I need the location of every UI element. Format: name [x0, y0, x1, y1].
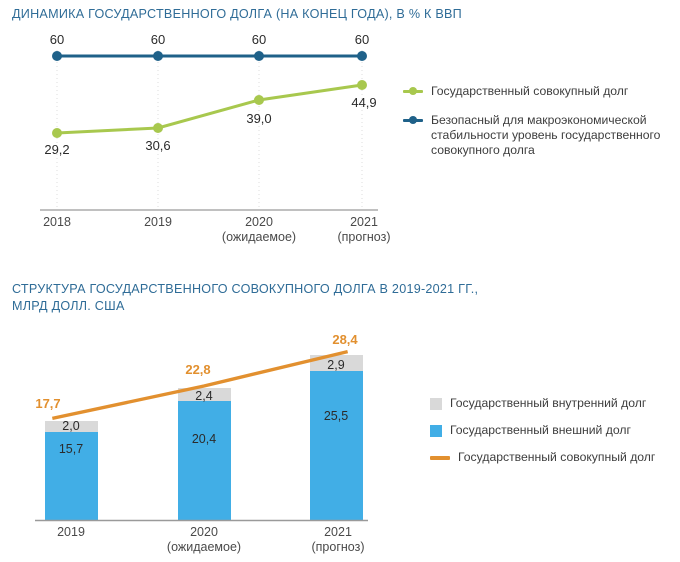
line-marker-green-icon	[402, 84, 424, 99]
legend-label-total-debt: Государственный совокупный долг	[431, 84, 676, 99]
x-tick-2020: 2020	[245, 215, 273, 229]
data-label-total-2021: 28,4	[332, 332, 358, 347]
data-label-external-2021: 25,5	[324, 409, 348, 423]
data-label-internal-2020: 2,4	[195, 389, 212, 403]
legend-label-safe-level: Безопасный для макроэкономической стабил…	[431, 113, 676, 158]
bar-group-2021[interactable]: 2,9 25,5	[310, 355, 363, 520]
legend-label-external-debt: Государственный внешний долг	[450, 423, 680, 438]
line-chart-svg: 60 60 60 60 29,2 30,6 39,0 44,9 2018 201…	[0, 28, 400, 228]
chart-one-legend: Государственный совокупный долг Безопасн…	[402, 84, 676, 158]
chart-two-plot: 2,0 15,7 2,4 20,4 2,9 25,5 17,7 22,8 28,…	[0, 330, 400, 530]
data-label-total-2021: 44,9	[351, 95, 376, 110]
x-tick-2021: 2021	[324, 525, 352, 539]
legend-label-internal-debt: Государственный внутренний долг	[450, 396, 680, 411]
x-tick-labels: 2018 2019 2020 (ожидаемое) 2021 (прогноз…	[43, 215, 390, 244]
square-marker-blue-icon	[430, 425, 442, 437]
bar-external-2020	[178, 401, 231, 520]
square-marker-gray-icon	[430, 398, 442, 410]
legend-item-internal-debt[interactable]: Государственный внутренний долг	[430, 396, 680, 411]
x-tick-2021-note: (прогноз)	[337, 230, 390, 244]
data-label-internal-2021: 2,9	[327, 358, 344, 372]
data-label-external-2019: 15,7	[59, 442, 83, 456]
data-label-safe-2020: 60	[252, 32, 266, 47]
x-tick-2020-note: (ожидаемое)	[222, 230, 296, 244]
series-total-debt-labels: 29,2 30,6 39,0 44,9	[44, 95, 376, 157]
series-safe-level-labels: 60 60 60 60	[50, 32, 369, 47]
x-tick-2020: 2020	[190, 525, 218, 539]
legend-item-external-debt[interactable]: Государственный внешний долг	[430, 423, 680, 438]
data-label-external-2020: 20,4	[192, 432, 216, 446]
series-safe-level	[52, 51, 367, 61]
data-label-total-2019: 17,7	[35, 396, 60, 411]
data-label-total-2018: 29,2	[44, 142, 69, 157]
data-label-internal-2019: 2,0	[62, 419, 79, 433]
legend-label-total-debt: Государственный совокупный долг	[458, 450, 680, 465]
bar-group-2020[interactable]: 2,4 20,4	[178, 388, 231, 520]
x-tick-2021-note: (прогноз)	[311, 540, 364, 554]
data-label-total-2020: 22,8	[185, 362, 210, 377]
chart-two-title: СТРУКТУРА ГОСУДАРСТВЕННОГО СОВОКУПНОГО Д…	[12, 281, 478, 315]
data-label-total-2019: 30,6	[145, 138, 170, 153]
data-label-safe-2019: 60	[151, 32, 165, 47]
data-label-safe-2018: 60	[50, 32, 64, 47]
x-tick-2020-note: (ожидаемое)	[167, 540, 241, 554]
x-tick-labels: 2019 2020 (ожидаемое) 2021 (прогноз)	[57, 525, 364, 554]
bar-external-2021	[310, 371, 363, 520]
chart-one-title: ДИНАМИКА ГОСУДАРСТВЕННОГО ДОЛГА (НА КОНЕ…	[12, 6, 462, 23]
chart-two-legend: Государственный внутренний долг Государс…	[430, 396, 680, 477]
legend-item-safe-level[interactable]: Безопасный для макроэкономической стабил…	[402, 113, 676, 158]
x-tick-2019: 2019	[57, 525, 85, 539]
x-tick-2021: 2021	[350, 215, 378, 229]
x-tick-2018: 2018	[43, 215, 71, 229]
data-label-total-2020: 39,0	[246, 111, 271, 126]
bar-chart-svg: 2,0 15,7 2,4 20,4 2,9 25,5 17,7 22,8 28,…	[0, 330, 400, 530]
line-marker-blue-icon	[402, 113, 424, 128]
series-total-debt	[52, 80, 367, 138]
x-tick-2019: 2019	[144, 215, 172, 229]
legend-item-total-debt[interactable]: Государственный совокупный долг	[430, 450, 680, 465]
legend-item-total-debt[interactable]: Государственный совокупный долг	[402, 84, 676, 99]
line-marker-orange-icon	[430, 456, 450, 460]
chart-one-plot: 60 60 60 60 29,2 30,6 39,0 44,9 2018 201…	[0, 28, 400, 228]
data-label-safe-2021: 60	[355, 32, 369, 47]
bar-group-2019[interactable]: 2,0 15,7	[45, 419, 98, 520]
